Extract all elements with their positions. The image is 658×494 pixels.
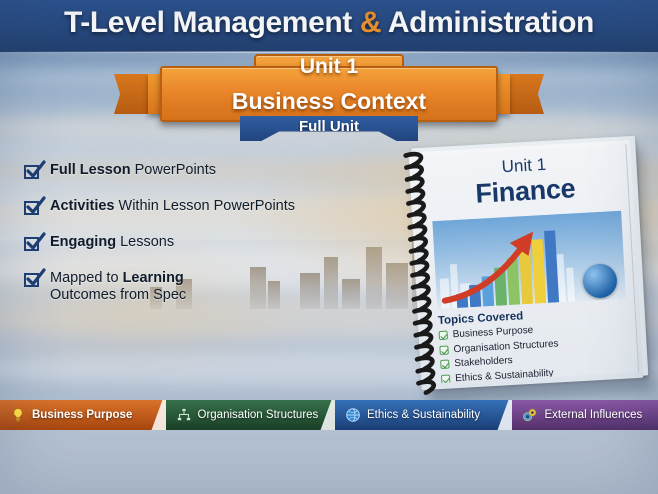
feature-rest: Lessons	[116, 234, 174, 250]
topic-tab-bar: Business Purpose Organisation Structures…	[0, 400, 658, 430]
topics-covered-list: Topics Covered Business Purpose Organisa…	[438, 305, 632, 384]
tab-label: Business Purpose	[32, 409, 132, 421]
feature-strong: Activities	[50, 198, 114, 214]
tab-business-purpose[interactable]: Business Purpose	[0, 400, 166, 430]
feature-item: Engaging Lessons	[24, 234, 354, 252]
tab-label: External Influences	[544, 409, 642, 421]
feature-text: Mapped to Learning Outcomes from Spec	[50, 270, 186, 304]
feature-rest: PowerPoints	[131, 162, 216, 178]
feature-item: Full Lesson PowerPoints	[24, 162, 354, 180]
lightbulb-icon	[10, 407, 26, 423]
topic-label: Organisation Structures	[453, 338, 559, 355]
org-chart-icon	[176, 407, 192, 423]
feature-text: Engaging Lessons	[50, 234, 174, 251]
tab-ethics-sustainability[interactable]: Ethics & Sustainability	[335, 400, 512, 430]
globe-icon	[345, 407, 361, 423]
resource-cover: T-Level Management & Administration Unit…	[0, 0, 658, 494]
feature-strong: Engaging	[50, 234, 116, 250]
growth-arrow-icon	[437, 220, 571, 307]
tab-external-influences[interactable]: External Influences	[512, 400, 658, 430]
title-text-first: T-Level Management	[64, 6, 360, 39]
checkbox-checked-icon	[24, 200, 41, 216]
foreground-strip	[0, 430, 658, 494]
ribbon-unit-label: Unit 1	[0, 55, 658, 79]
cover-chart-graphic	[432, 211, 626, 309]
workbook-mockup: Unit 1 Finance	[402, 133, 653, 399]
gears-icon	[522, 407, 538, 423]
topic-label: Stakeholders	[454, 355, 513, 369]
tab-label: Organisation Structures	[198, 409, 319, 421]
tab-label: Ethics & Sustainability	[367, 409, 480, 421]
book-cover: Unit 1 Finance	[421, 144, 639, 383]
globe-graphic	[582, 263, 618, 299]
feature-text: Full Lesson PowerPoints	[50, 162, 216, 179]
checkbox-checked-icon	[24, 272, 41, 288]
title-text-second: Administration	[381, 6, 594, 39]
title-ampersand: &	[360, 6, 381, 39]
page-title: T-Level Management & Administration	[0, 6, 658, 40]
feature-line1-strong: Learning	[123, 270, 184, 286]
feature-item: Activities Within Lesson PowerPoints	[24, 198, 354, 216]
feature-line2: Outcomes from Spec	[50, 287, 186, 303]
feature-text: Activities Within Lesson PowerPoints	[50, 198, 295, 215]
topic-label: Business Purpose	[452, 325, 533, 340]
feature-strong: Full Lesson	[50, 162, 131, 178]
ribbon-context-label: Business Context	[0, 88, 658, 115]
feature-list: Full Lesson PowerPoints Activities Withi…	[24, 162, 354, 322]
unit-ribbon: Unit 1 Business Context Full Unit	[0, 52, 658, 134]
checkbox-checked-icon	[24, 164, 41, 180]
checkbox-checked-icon	[24, 236, 41, 252]
full-unit-label: Full Unit	[240, 118, 418, 135]
tab-organisation-structures[interactable]: Organisation Structures	[166, 400, 335, 430]
feature-item: Mapped to Learning Outcomes from Spec	[24, 270, 354, 304]
feature-rest: Within Lesson PowerPoints	[114, 198, 295, 214]
feature-line1-pre: Mapped to	[50, 270, 123, 286]
